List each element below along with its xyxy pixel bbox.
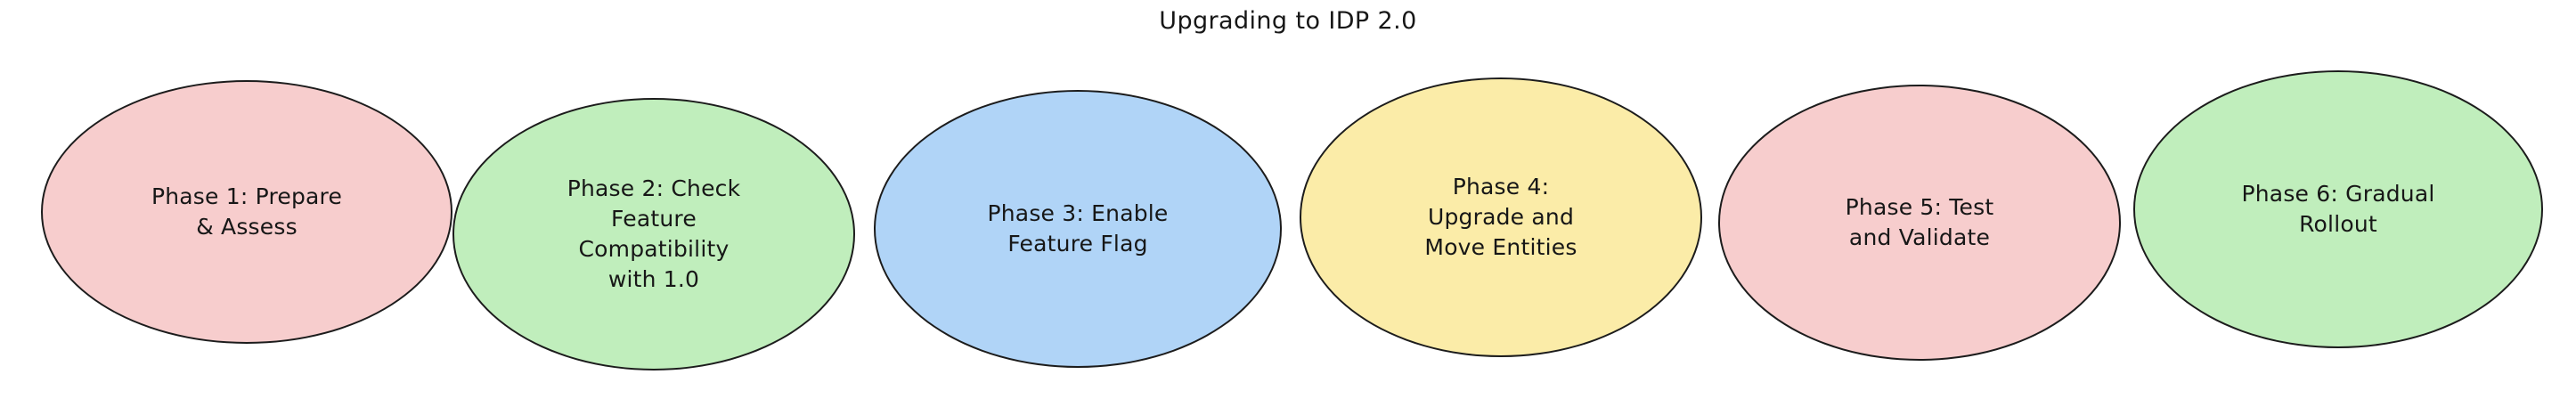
node-phase-2-label: Phase 2: Check Feature Compatibility wit… — [553, 174, 755, 295]
node-phase-1[interactable]: Phase 1: Prepare & Assess — [41, 80, 452, 344]
node-phase-2[interactable]: Phase 2: Check Feature Compatibility wit… — [452, 98, 855, 370]
node-phase-4-label: Phase 4: Upgrade and Move Entities — [1410, 172, 1591, 263]
node-phase-1-label: Phase 1: Prepare & Assess — [137, 182, 356, 242]
node-phase-3[interactable]: Phase 3: Enable Feature Flag — [874, 90, 1282, 368]
node-phase-6-label: Phase 6: Gradual Rollout — [2227, 179, 2449, 240]
node-phase-4[interactable]: Phase 4: Upgrade and Move Entities — [1300, 77, 1702, 357]
node-phase-5[interactable]: Phase 5: Test and Validate — [1718, 85, 2121, 361]
node-phase-6[interactable]: Phase 6: Gradual Rollout — [2133, 70, 2543, 348]
phase-sequence: Phase 1: Prepare & Assess Phase 2: Check… — [0, 0, 2576, 399]
node-phase-3-label: Phase 3: Enable Feature Flag — [973, 199, 1182, 259]
node-phase-5-label: Phase 5: Test and Validate — [1831, 192, 2009, 253]
diagram-canvas: Upgrading to IDP 2.0 Phase 1: Prepare & … — [0, 0, 2576, 399]
